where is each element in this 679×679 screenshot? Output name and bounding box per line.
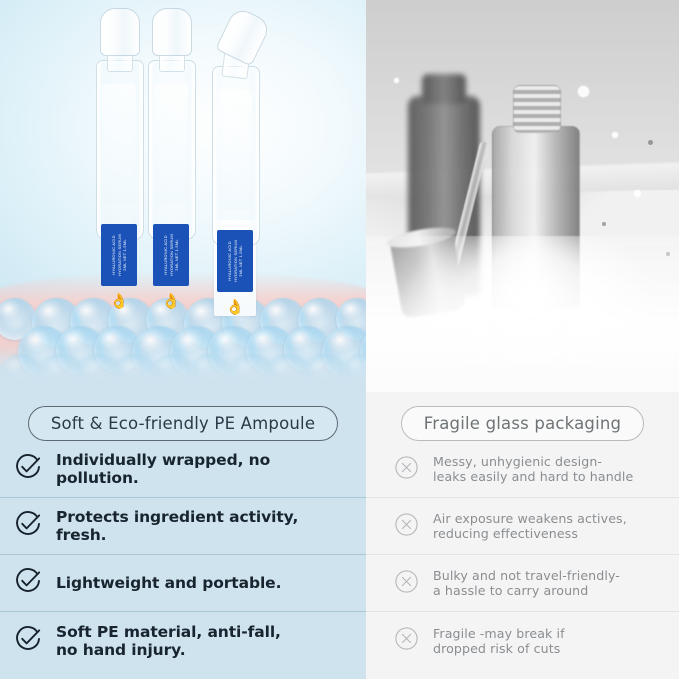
water-droplet-dark: [648, 140, 653, 145]
ampoule-liquid: [154, 84, 188, 204]
left-content: Soft & Eco-friendly PE Ampoule Individua…: [0, 392, 366, 669]
ampoule-cap: [152, 8, 192, 56]
ampoule-label: HYALURONIC ACIDHYDRATION SERUM2ML NET 1.…: [217, 230, 253, 292]
water-bubble: [113, 354, 159, 392]
bottle-neck-threaded: [513, 85, 561, 133]
water-bubble: [94, 326, 141, 373]
ampoule-group: HYALURONIC ACIDHYDRATION SERUM2ML NET 1.…: [96, 8, 266, 308]
list-item-label: Soft PE material, anti-fall,no hand inju…: [56, 623, 281, 659]
list-item-label: Messy, unhygienic design-leaks easily an…: [433, 454, 633, 484]
water-bubble: [0, 354, 42, 392]
x-circle-icon: [394, 626, 419, 655]
water-bubble: [75, 354, 123, 392]
check-circle-icon: [14, 510, 42, 542]
x-circle-icon: [394, 569, 419, 598]
ampoule-label-text: HYALURONIC ACIDHYDRATION SERUM2ML NET 1.…: [111, 234, 128, 276]
left-panel: HYALURONIC ACIDHYDRATION SERUM2ML NET 1.…: [0, 0, 366, 679]
list-item: Individually wrapped, no pollution.: [0, 441, 366, 498]
left-heading-pill: Soft & Eco-friendly PE Ampoule: [28, 406, 338, 441]
list-item-label: Fragile -may break ifdropped risk of cut…: [433, 626, 565, 656]
list-item: Lightweight and portable.: [0, 555, 366, 612]
bottle-neck: [422, 74, 466, 104]
water-bubble: [265, 354, 312, 392]
right-heading-pill: Fragile glass packaging: [401, 406, 644, 441]
ampoule-label-text: HYALURONIC ACIDHYDRATION SERUM2ML NET 1.…: [163, 234, 180, 276]
ampoule-liquid: [102, 84, 136, 204]
water-droplet: [634, 190, 641, 197]
water-bubble: [246, 326, 294, 374]
water-bubble: [189, 354, 231, 392]
water-splash: [366, 236, 679, 392]
check-circle-icon: [14, 453, 42, 485]
water-bubble: [208, 326, 258, 376]
water-bubble: [37, 354, 87, 392]
ampoule-liquid: [218, 90, 252, 210]
list-item-label: Air exposure weakens actives,reducing ef…: [433, 511, 627, 541]
hand-care-icon: 👌: [103, 290, 135, 312]
list-item: Air exposure weakens actives,reducing ef…: [366, 498, 679, 555]
left-benefit-list: Individually wrapped, no pollution.Prote…: [0, 441, 366, 669]
hand-care-icon: 👌: [219, 296, 251, 318]
ampoule-label: HYALURONIC ACIDHYDRATION SERUM2ML NET 1.…: [101, 224, 137, 286]
list-item-label: Protects ingredient activity, fresh.: [56, 508, 350, 544]
x-circle-icon: [394, 512, 419, 541]
water-bubble: [227, 354, 276, 392]
infographic-root: HYALURONIC ACIDHYDRATION SERUM2ML NET 1.…: [0, 0, 679, 679]
right-drawback-list: Messy, unhygienic design-leaks easily an…: [366, 441, 679, 669]
list-item: Fragile -may break ifdropped risk of cut…: [366, 612, 679, 669]
ampoule-label: HYALURONIC ACIDHYDRATION SERUM2ML NET 1.…: [153, 224, 189, 286]
ampoule-cap: [100, 8, 140, 56]
list-item-label: Lightweight and portable.: [56, 574, 281, 592]
check-circle-icon: [14, 567, 42, 599]
right-hero-image: [366, 0, 679, 392]
water-droplet-dark: [602, 222, 606, 226]
hand-care-icon: 👌: [155, 290, 187, 312]
list-item: Soft PE material, anti-fall,no hand inju…: [0, 612, 366, 669]
x-circle-icon: [394, 455, 419, 484]
water-droplet: [612, 132, 618, 138]
left-hero-image: HYALURONIC ACIDHYDRATION SERUM2ML NET 1.…: [0, 0, 366, 392]
right-content: Fragile glass packaging Messy, unhygieni…: [366, 392, 679, 669]
list-item-label: Bulky and not travel-friendly-a hassle t…: [433, 568, 620, 598]
water-bubble: [303, 354, 348, 392]
list-item: Messy, unhygienic design-leaks easily an…: [366, 441, 679, 498]
check-circle-icon: [14, 625, 42, 657]
right-panel: Fragile glass packaging Messy, unhygieni…: [366, 0, 679, 679]
water-bubble: [322, 326, 366, 379]
list-item-label: Individually wrapped, no pollution.: [56, 451, 350, 487]
list-item: Bulky and not travel-friendly-a hassle t…: [366, 555, 679, 612]
list-item: Protects ingredient activity, fresh.: [0, 498, 366, 555]
ampoule-label-text: HYALURONIC ACIDHYDRATION SERUM2ML NET 1.…: [227, 240, 244, 282]
water-bubble: [341, 354, 366, 392]
water-bubble: [151, 354, 195, 392]
water-droplet: [578, 86, 589, 97]
water-bubble: [56, 326, 105, 375]
water-droplet: [394, 78, 399, 83]
